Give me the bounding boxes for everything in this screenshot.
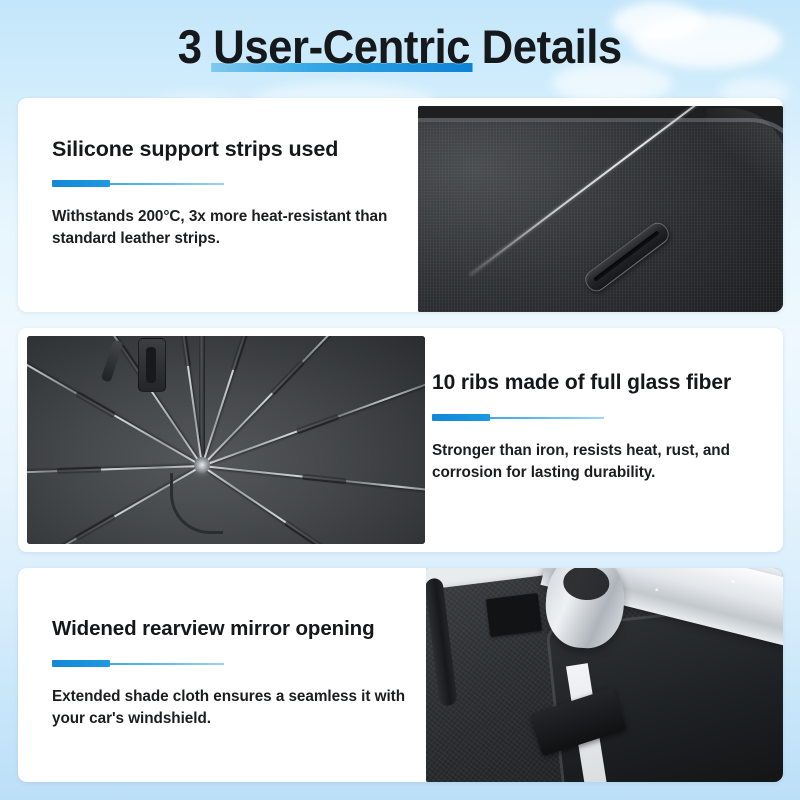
page-title-prefix: 3: [178, 20, 214, 73]
umbrella-ribs-interior-photo: [27, 336, 425, 544]
accent-bar-thick: [52, 660, 110, 667]
handle-shape: [138, 338, 166, 392]
feature-card-rearview-mirror-opening: Widened rearview mirror opening Extended…: [18, 568, 783, 782]
accent-bar: [432, 414, 604, 421]
card-text-block: 10 ribs made of full glass fiber Stronge…: [432, 370, 782, 484]
page-title-suffix: Details: [470, 20, 622, 73]
page-title-text: 3 User-Centric Details: [178, 18, 622, 76]
accent-bar: [52, 660, 224, 667]
accent-bar-thick: [432, 414, 490, 421]
card-text-block: Silicone support strips used Withstands …: [52, 136, 412, 250]
feature-card-glass-fiber-ribs: 10 ribs made of full glass fiber Stronge…: [18, 328, 783, 552]
card-body: Withstands 200°C, 3x more heat-resistant…: [52, 206, 412, 250]
velcro-patch-shape: [486, 593, 542, 637]
accent-bar-thick: [52, 180, 110, 187]
feature-card-silicone-support-strips: Silicone support strips used Withstands …: [18, 98, 783, 312]
card-text-block: Widened rearview mirror opening Extended…: [52, 616, 432, 730]
page-title-underlined: User-Centric: [213, 20, 470, 73]
accent-bar: [52, 180, 224, 187]
card-body: Stronger than iron, resists heat, rust, …: [432, 440, 782, 484]
rib-hub-shape: [194, 457, 210, 473]
card-body: Extended shade cloth ensures a seamless …: [52, 686, 432, 730]
page-title: 3 User-Centric Details: [0, 18, 800, 76]
card-heading: Silicone support strips used: [52, 136, 412, 162]
sunshade-corner-with-silicone-strip-photo: [418, 106, 783, 312]
card-heading: Widened rearview mirror opening: [52, 616, 432, 642]
rearview-mirror-opening-strap-photo: [426, 568, 783, 782]
card-heading: 10 ribs made of full glass fiber: [432, 370, 782, 396]
